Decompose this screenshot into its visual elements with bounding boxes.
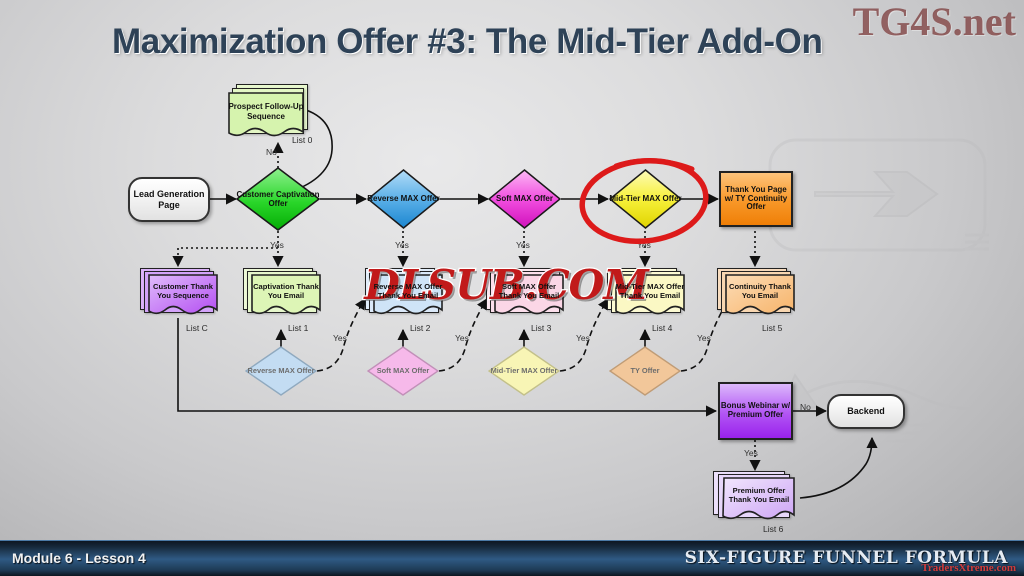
node-label: Soft MAX Offer Thank You Email [494, 274, 564, 316]
node-label: Soft MAX Offer [367, 346, 439, 396]
node-thank-you-page-continuity[interactable]: Thank You Page w/ TY Continuity Offer [719, 171, 793, 227]
watermark-bottom-right: TradersXtreme.com [921, 562, 1016, 574]
node-ty-offer-faded[interactable]: TY Offer [609, 346, 681, 396]
node-lead-generation-page[interactable]: Lead Generation Page [128, 177, 210, 222]
node-soft-max-offer-faded[interactable]: Soft MAX Offer [367, 346, 439, 396]
edge-label-no-top: No [266, 147, 277, 157]
node-label: Backend [847, 406, 885, 416]
node-label: Customer Captivation Offer [236, 167, 320, 231]
node-premium-offer-thank-you-email[interactable]: Premium Offer Thank You Email [713, 471, 799, 523]
node-backend[interactable]: Backend [827, 394, 905, 429]
footer-bar: Module 6 - Lesson 4 SIX-FIGURE FUNNEL FO… [0, 540, 1024, 576]
edge-label-yes-r1: Yes [333, 333, 347, 343]
node-label: Premium Offer Thank You Email [723, 477, 795, 521]
node-label: Reverse MAX Offer [367, 169, 440, 229]
node-reverse-max-thank-you-email[interactable]: Reverse MAX Offer Thank You Email [365, 268, 445, 320]
edge-label-yes-r4: Yes [697, 333, 711, 343]
list-tag-list5: List 5 [762, 323, 782, 333]
node-label: Mid-Tier MAX Offer [609, 169, 682, 229]
node-label: TY Offer [609, 346, 681, 396]
list-tag-list2: List 2 [410, 323, 430, 333]
node-bonus-webinar[interactable]: Bonus Webinar w/ Premium Offer [718, 382, 793, 440]
node-label: Mid-Tier MAX Offer [488, 346, 560, 396]
edge-label-yes-captivation: Yes [270, 240, 284, 250]
node-customer-captivation-offer[interactable]: Customer Captivation Offer [236, 167, 320, 231]
node-captivation-thank-you-email[interactable]: Captivation Thank You Email [243, 268, 323, 320]
footer-module-label: Module 6 - Lesson 4 [12, 550, 146, 566]
node-mid-tier-max-offer[interactable]: Mid-Tier MAX Offer [609, 169, 682, 229]
node-continuity-thank-you-email[interactable]: Continuity Thank You Email [717, 268, 797, 320]
node-soft-max-offer[interactable]: Soft MAX Offer [488, 169, 561, 229]
node-mid-tier-max-offer-faded[interactable]: Mid-Tier MAX Offer [488, 346, 560, 396]
edge-label-yes-r3: Yes [576, 333, 590, 343]
edge-label-yes-midtier: Yes [637, 240, 651, 250]
list-tag-list1: List 1 [288, 323, 308, 333]
node-label: Prospect Follow-Up Sequence [228, 92, 304, 138]
node-label: Continuity Thank You Email [725, 274, 795, 316]
node-label: Captivation Thank You Email [251, 274, 321, 316]
node-label: Reverse MAX Offer Thank You Email [373, 274, 443, 316]
node-label: Bonus Webinar w/ Premium Offer [720, 402, 791, 420]
edge-label-yes-premium: Yes [744, 448, 758, 458]
edge-label-no-backend: No [800, 402, 811, 412]
node-mid-tier-thank-you-email[interactable]: Mid-Tier MAX Offer Thank You Email [607, 268, 687, 320]
node-label: Thank You Page w/ TY Continuity Offer [721, 186, 791, 213]
node-reverse-max-offer[interactable]: Reverse MAX Offer [367, 169, 440, 229]
node-soft-max-thank-you-email[interactable]: Soft MAX Offer Thank You Email [486, 268, 566, 320]
list-tag-list4: List 4 [652, 323, 672, 333]
list-tag-list6: List 6 [763, 524, 783, 534]
list-tag-list3: List 3 [531, 323, 551, 333]
edge-label-yes-soft: Yes [516, 240, 530, 250]
edge-label-yes-r2: Yes [455, 333, 469, 343]
node-label: Soft MAX Offer [488, 169, 561, 229]
node-prospect-follow-up-sequence[interactable]: Prospect Follow-Up Sequence [228, 84, 310, 140]
node-label: Lead Generation Page [130, 189, 208, 209]
edge-label-yes-reverse: Yes [395, 240, 409, 250]
node-customer-thank-you-sequence[interactable]: Customer Thank You Sequence [140, 268, 220, 320]
node-label: Reverse MAX Offer [245, 346, 317, 396]
node-reverse-max-offer-faded[interactable]: Reverse MAX Offer [245, 346, 317, 396]
node-label: Customer Thank You Sequence [148, 274, 218, 316]
list-tag-listC: List C [186, 323, 208, 333]
node-label: Mid-Tier MAX Offer Thank You Email [615, 274, 685, 316]
slide-canvas: TG4S.net Maximization Offer #3: The Mid-… [0, 0, 1024, 576]
